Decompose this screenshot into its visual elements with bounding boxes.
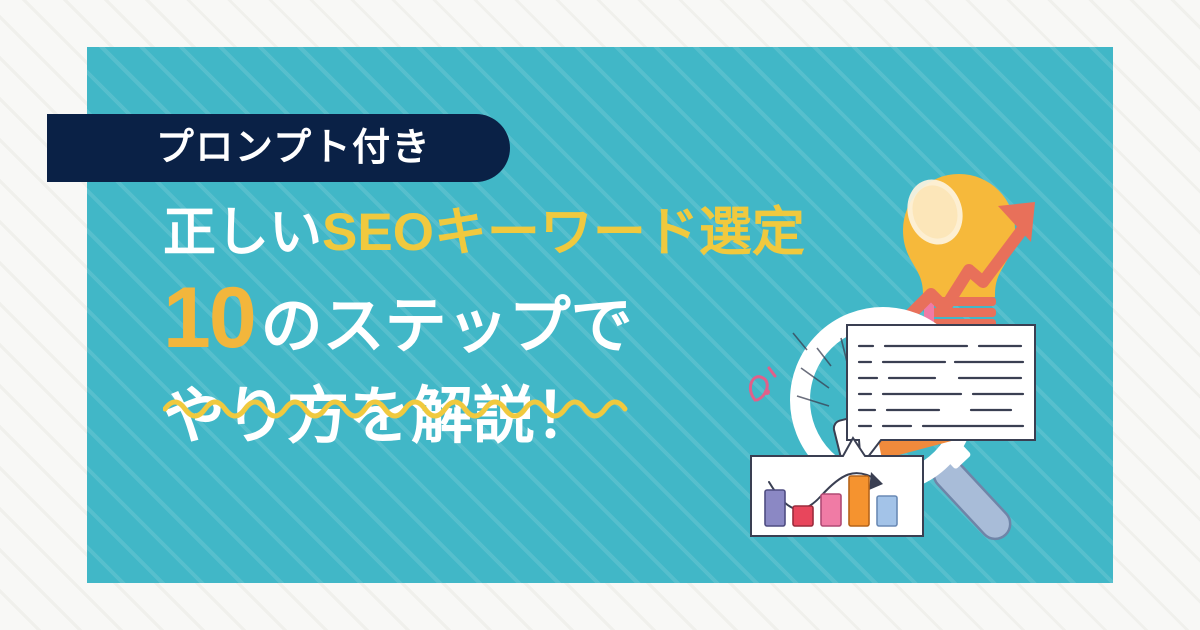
headline-line-1-yellow: SEOキーワード選定 [322,203,805,262]
poster-canvas: プロンプト付き 正しいSEOキーワード選定 10のステップで やり方を解説！ [0,0,1200,630]
headline-line-2-rest: のステップで [261,296,633,358]
headline-line-1: 正しいSEOキーワード選定 [163,206,883,259]
headline-line-2: 10のステップで [163,282,883,358]
headline-step-count: 10 [163,282,255,355]
badge-pill: プロンプト付き [47,114,510,182]
badge-label: プロンプト付き [156,129,431,167]
headline-line-1-white: 正しい [163,203,322,262]
wavy-underline-decoration [163,393,633,421]
